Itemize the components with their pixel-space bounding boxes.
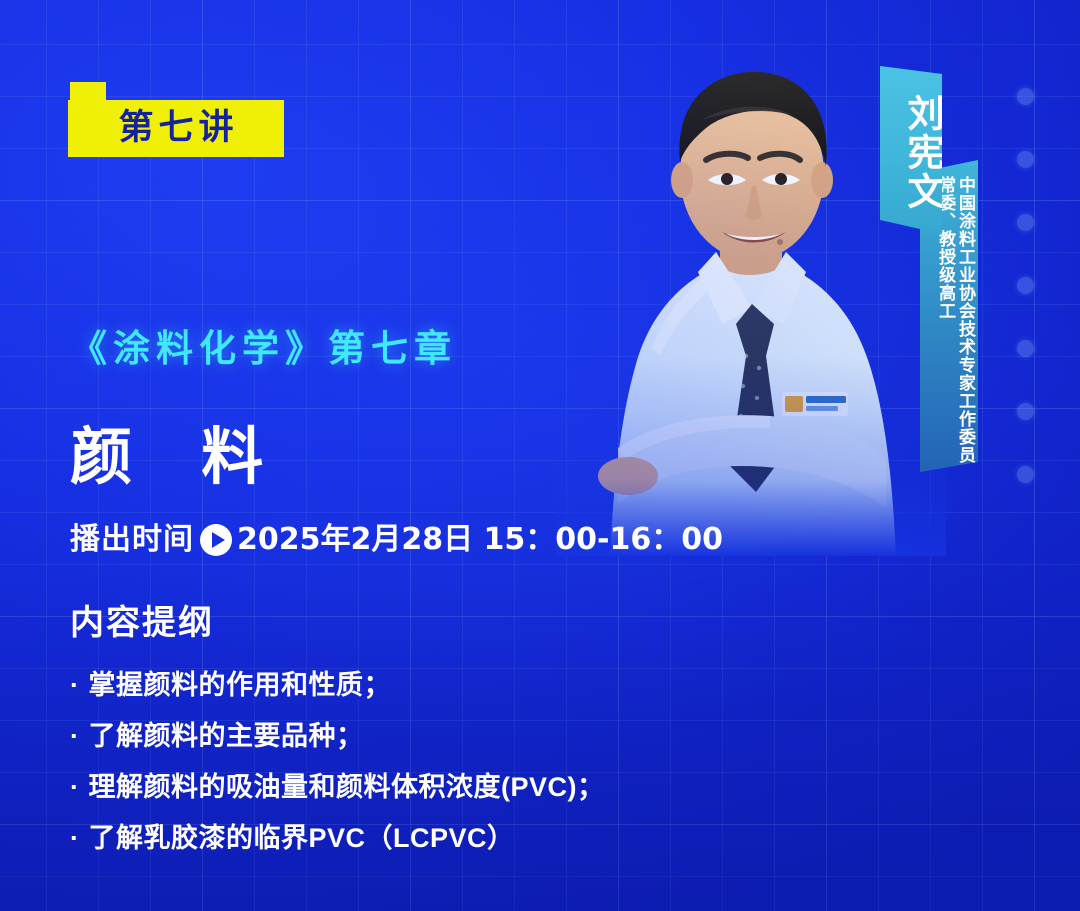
list-item: ·了解颜料的主要品种； xyxy=(70,723,605,750)
list-item-label: 理解颜料的吸油量和颜料体积浓度(PVC)； xyxy=(89,772,605,802)
airtime-value: 2025年2月28日 15：00-16：00 xyxy=(237,525,723,555)
badge-label: 第七讲 xyxy=(113,111,238,146)
decorative-dot xyxy=(1017,151,1034,168)
decorative-dot xyxy=(1017,403,1034,420)
bullet-icon: · xyxy=(70,825,80,852)
speaker-organization: 中国涂料工业协会技术专家工作委员会 xyxy=(956,176,974,482)
airtime-label: 播出时间 xyxy=(70,525,194,555)
play-icon xyxy=(200,524,232,556)
list-item: ·理解颜料的吸油量和颜料体积浓度(PVC)； xyxy=(70,774,605,801)
decorative-dot xyxy=(1017,340,1034,357)
decorative-dot xyxy=(1017,277,1034,294)
bullet-icon: · xyxy=(70,774,80,801)
lesson-badge: 第七讲 xyxy=(68,82,284,157)
page-title: 颜 料 xyxy=(70,427,289,489)
bullet-icon: · xyxy=(70,723,80,750)
list-item-label: 了解颜料的主要品种； xyxy=(89,721,364,751)
speaker-name-ribbon: 刘宪文 xyxy=(880,66,942,234)
outline-list: ·掌握颜料的作用和性质； ·了解颜料的主要品种； ·理解颜料的吸油量和颜料体积浓… xyxy=(70,672,605,876)
bullet-icon: · xyxy=(70,672,80,699)
list-item: ·掌握颜料的作用和性质； xyxy=(70,672,605,699)
outline-heading: 内容提纲 xyxy=(70,606,214,640)
decorative-dot xyxy=(1017,466,1034,483)
lecture-poster: 第七讲 《涂料化学》第七章 颜 料 播出时间 2025年2月28日 15：00-… xyxy=(0,0,1080,911)
badge-bar: 第七讲 xyxy=(68,100,284,157)
list-item-label: 掌握颜料的作用和性质； xyxy=(89,670,392,700)
decorative-dot xyxy=(1017,214,1034,231)
list-item: ·了解乳胶漆的临界PVC（LCPVC） xyxy=(70,825,605,852)
chapter-title: 《涂料化学》第七章 xyxy=(70,330,457,367)
decorative-dot-column xyxy=(1017,88,1034,483)
list-item-label: 了解乳胶漆的临界PVC（LCPVC） xyxy=(89,823,515,853)
airtime-row: 播出时间 2025年2月28日 15：00-16：00 xyxy=(70,524,723,556)
decorative-dot xyxy=(1017,88,1034,105)
speaker-name: 刘宪文 xyxy=(880,80,942,225)
